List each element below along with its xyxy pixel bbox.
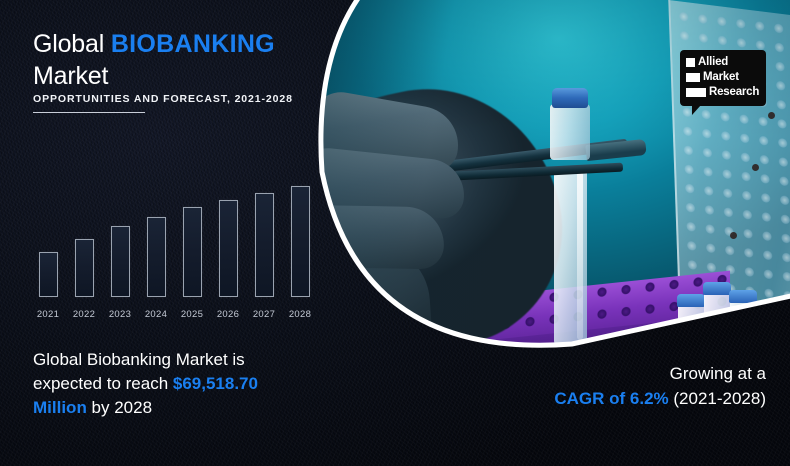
title-prefix: Global bbox=[33, 30, 111, 58]
chart-bar bbox=[111, 226, 130, 298]
cagr-line1: Growing at a bbox=[670, 364, 766, 383]
chart-x-label: 2027 bbox=[246, 309, 282, 320]
logo-text-market: Market bbox=[703, 72, 739, 84]
chart-bar bbox=[291, 186, 310, 297]
chart-x-label: 2028 bbox=[282, 309, 318, 320]
bar-slot bbox=[66, 179, 102, 297]
chart-x-label: 2023 bbox=[102, 309, 138, 320]
bar-slot bbox=[210, 179, 246, 297]
subtitle: OPPORTUNITIES AND FORECAST, 2021-2028 bbox=[33, 93, 293, 105]
cagr-value: CAGR of 6.2% bbox=[554, 389, 668, 408]
bar-slot bbox=[138, 179, 174, 297]
title-suffix: Market bbox=[33, 62, 108, 90]
cagr-period: (2021-2028) bbox=[669, 389, 766, 408]
chart-x-label: 2022 bbox=[66, 309, 102, 320]
chart-x-axis-labels: 20212022202320242025202620272028 bbox=[30, 309, 320, 320]
chart-x-label: 2026 bbox=[210, 309, 246, 320]
logo-square-icon bbox=[686, 73, 700, 82]
chart-bar bbox=[39, 252, 58, 297]
cagr-statement: Growing at a CAGR of 6.2% (2021-2028) bbox=[436, 362, 766, 411]
forecast-bar-chart: 20212022202320242025202620272028 bbox=[30, 170, 320, 320]
logo-row-market: Market bbox=[686, 72, 739, 84]
market-value-statement: Global Biobanking Market is expected to … bbox=[33, 348, 333, 420]
chart-x-label: 2021 bbox=[30, 309, 66, 320]
chart-bar bbox=[255, 193, 274, 298]
chart-bar bbox=[75, 239, 94, 298]
logo-text-research: Research bbox=[709, 87, 759, 99]
stat-left-value: $69,518.70 bbox=[173, 374, 258, 393]
stat-left-unit: Million bbox=[33, 398, 87, 417]
logo-square-icon bbox=[686, 58, 695, 67]
chart-x-label: 2025 bbox=[174, 309, 210, 320]
bar-slot bbox=[282, 179, 318, 297]
stat-left-year: by 2028 bbox=[87, 398, 152, 417]
infographic-canvas: Allied Market Research Global BIOBANKING… bbox=[0, 0, 790, 466]
chart-bar bbox=[183, 207, 202, 297]
chart-bar bbox=[147, 217, 166, 298]
title-accent: BIOBANKING bbox=[111, 30, 275, 58]
chart-bars bbox=[30, 179, 320, 297]
subtitle-divider bbox=[33, 112, 145, 113]
logo-row-allied: Allied bbox=[686, 57, 728, 69]
bar-slot bbox=[30, 179, 66, 297]
bar-slot bbox=[174, 179, 210, 297]
chart-x-label: 2024 bbox=[138, 309, 174, 320]
logo-square-icon bbox=[686, 88, 706, 97]
bar-slot bbox=[102, 179, 138, 297]
logo-bubble-tail bbox=[692, 105, 701, 115]
logo-text-allied: Allied bbox=[698, 57, 728, 69]
allied-market-research-logo: Allied Market Research bbox=[680, 50, 766, 106]
stat-left-line1: Global Biobanking Market is bbox=[33, 350, 245, 369]
bar-slot bbox=[246, 179, 282, 297]
page-title: Global BIOBANKING Market bbox=[33, 28, 313, 92]
stat-left-line2: expected to reach bbox=[33, 374, 173, 393]
logo-row-research: Research bbox=[686, 87, 759, 99]
chart-bar bbox=[219, 200, 238, 298]
